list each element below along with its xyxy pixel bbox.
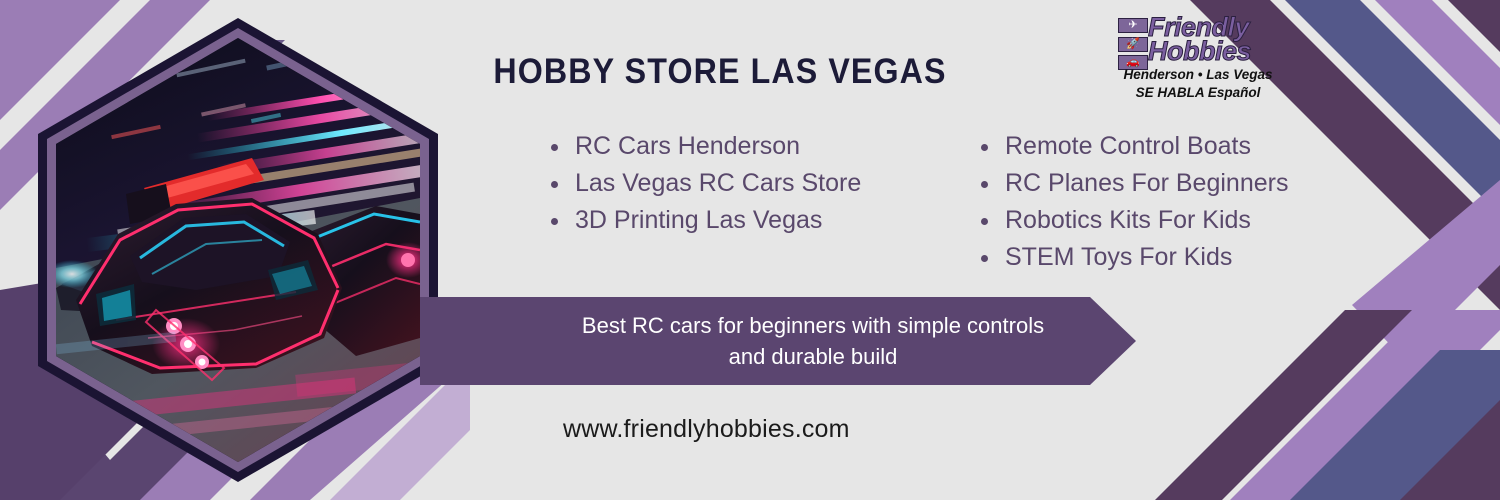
hero-photo bbox=[38, 18, 438, 482]
website-url[interactable]: www.friendlyhobbies.com bbox=[563, 415, 850, 444]
tagline-line-1: Best RC cars for beginners with simple c… bbox=[503, 310, 1123, 341]
list-item[interactable]: Remote Control Boats bbox=[975, 128, 1288, 165]
logo-word-hobbies: Hobbies bbox=[1148, 36, 1251, 67]
logo-locations: Henderson • Las Vegas bbox=[1108, 67, 1288, 82]
brand-logo[interactable]: ✈ 🚀 🚗 Friendly Hobbies Henderson • Las V… bbox=[1108, 10, 1288, 106]
logo-icon-stack: ✈ 🚀 🚗 bbox=[1118, 18, 1148, 70]
logo-spanish-note: SE HABLA Español bbox=[1108, 85, 1288, 100]
marketing-banner: HOBBY STORE LAS VEGAS ✈ 🚀 🚗 Friendly Hob… bbox=[0, 0, 1500, 500]
page-title: HOBBY STORE LAS VEGAS bbox=[490, 52, 950, 92]
list-item[interactable]: Las Vegas RC Cars Store bbox=[545, 165, 861, 202]
list-item[interactable]: RC Cars Henderson bbox=[545, 128, 861, 165]
rocket-icon: 🚀 bbox=[1118, 37, 1148, 52]
list-item[interactable]: Robotics Kits For Kids bbox=[975, 202, 1288, 239]
tagline-line-2: and durable build bbox=[503, 341, 1123, 372]
tagline-text: Best RC cars for beginners with simple c… bbox=[503, 310, 1123, 372]
plane-icon: ✈ bbox=[1118, 18, 1148, 33]
list-item[interactable]: STEM Toys For Kids bbox=[975, 239, 1288, 276]
list-item[interactable]: RC Planes For Beginners bbox=[975, 165, 1288, 202]
keyword-list-left: RC Cars Henderson Las Vegas RC Cars Stor… bbox=[545, 128, 861, 239]
list-item[interactable]: 3D Printing Las Vegas bbox=[545, 202, 861, 239]
tagline-ribbon: Best RC cars for beginners with simple c… bbox=[420, 297, 1136, 385]
keyword-list-right: Remote Control Boats RC Planes For Begin… bbox=[975, 128, 1288, 276]
